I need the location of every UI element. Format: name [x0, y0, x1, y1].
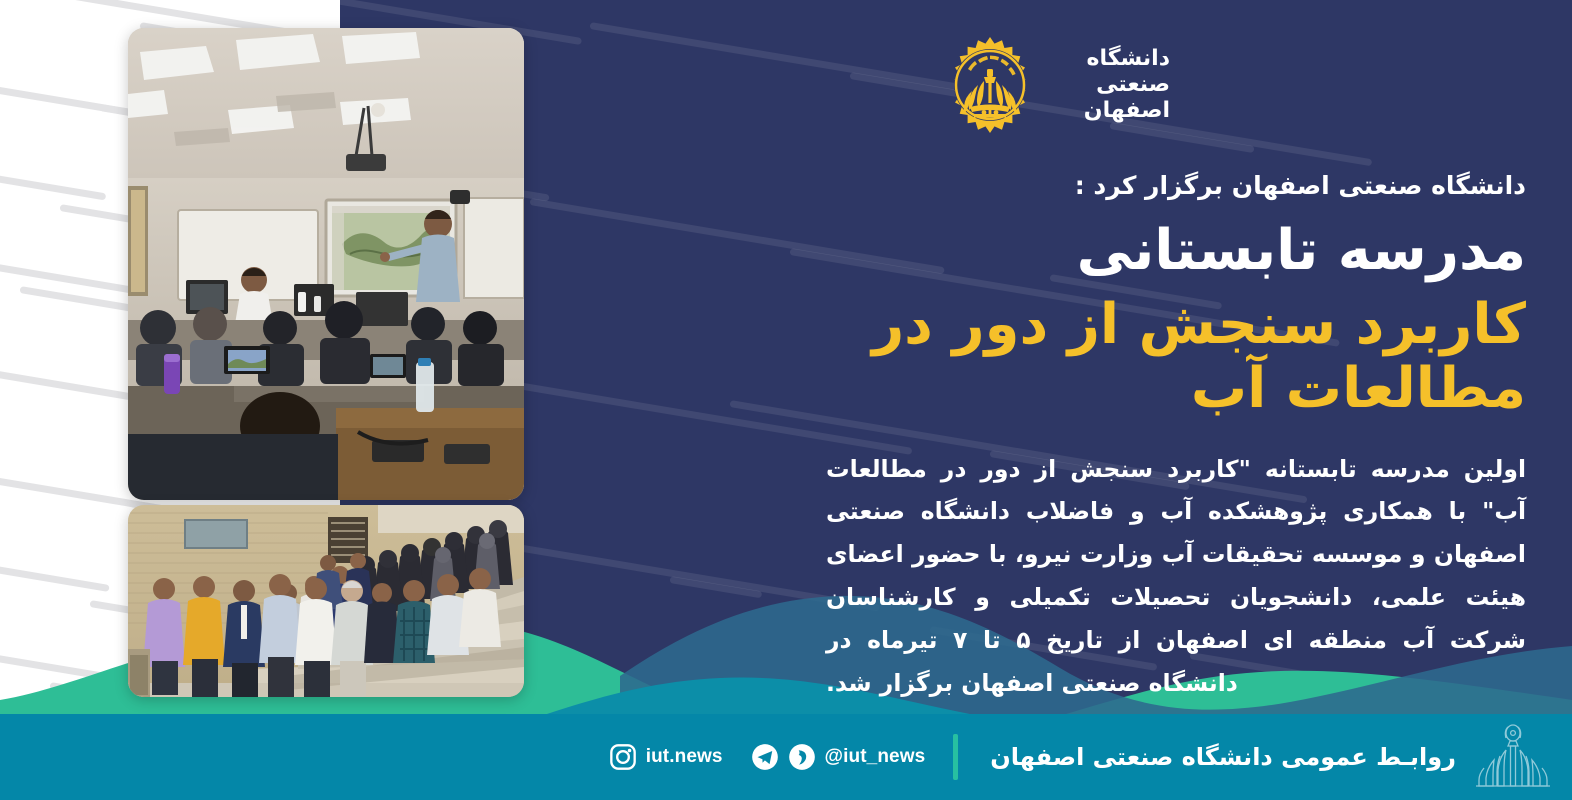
classroom-lecture-photo — [128, 28, 524, 500]
title-line-2: کاربرد سنجش از دور در مطالعات آب — [826, 293, 1526, 422]
logo-word-line3: اصفهان — [1084, 98, 1170, 124]
iut-logo-wordmark: دانشگاه صنعتی اصفهان — [1080, 46, 1170, 124]
iut-gear-emblem — [940, 35, 1040, 135]
iut-line-emblem — [1470, 722, 1556, 792]
instagram-handle[interactable]: iut.news — [646, 746, 723, 768]
iut-logo-block: دانشگاه صنعتی اصفهان — [940, 30, 1170, 140]
logo-word-line2: صنعتی — [1084, 72, 1170, 98]
footer-bar: iut.news @iut_news روابـط عمومی دانشگاه … — [0, 714, 1572, 800]
instagram-icon[interactable] — [609, 743, 637, 771]
logo-word-line1: دانشگاه — [1084, 46, 1170, 72]
instagram-link[interactable]: iut.news — [609, 743, 723, 771]
bale-icon[interactable] — [788, 743, 816, 771]
kicker-line: دانشگاه صنعتی اصفهان برگزار کرد : — [826, 170, 1526, 203]
telegram-icon[interactable] — [751, 743, 779, 771]
poster-root: دانشگاه صنعتی اصفهان — [0, 0, 1572, 800]
body-paragraph: اولین مدرسه تابستانه "کاربرد سنجش از دور… — [826, 448, 1526, 705]
public-relations-label: روابـط عمومی دانشگاه صنعتی اصفهان — [990, 743, 1456, 771]
messaging-handle[interactable]: @iut_news — [825, 746, 926, 768]
messaging-links[interactable]: @iut_news — [751, 743, 926, 771]
title-line-1: مدرسه تابستانی — [826, 219, 1526, 283]
group-stairs-photo — [128, 505, 524, 697]
poster-text-column: دانشگاه صنعتی اصفهان برگزار کرد : مدرسه … — [826, 170, 1526, 704]
footer-divider — [953, 734, 958, 780]
